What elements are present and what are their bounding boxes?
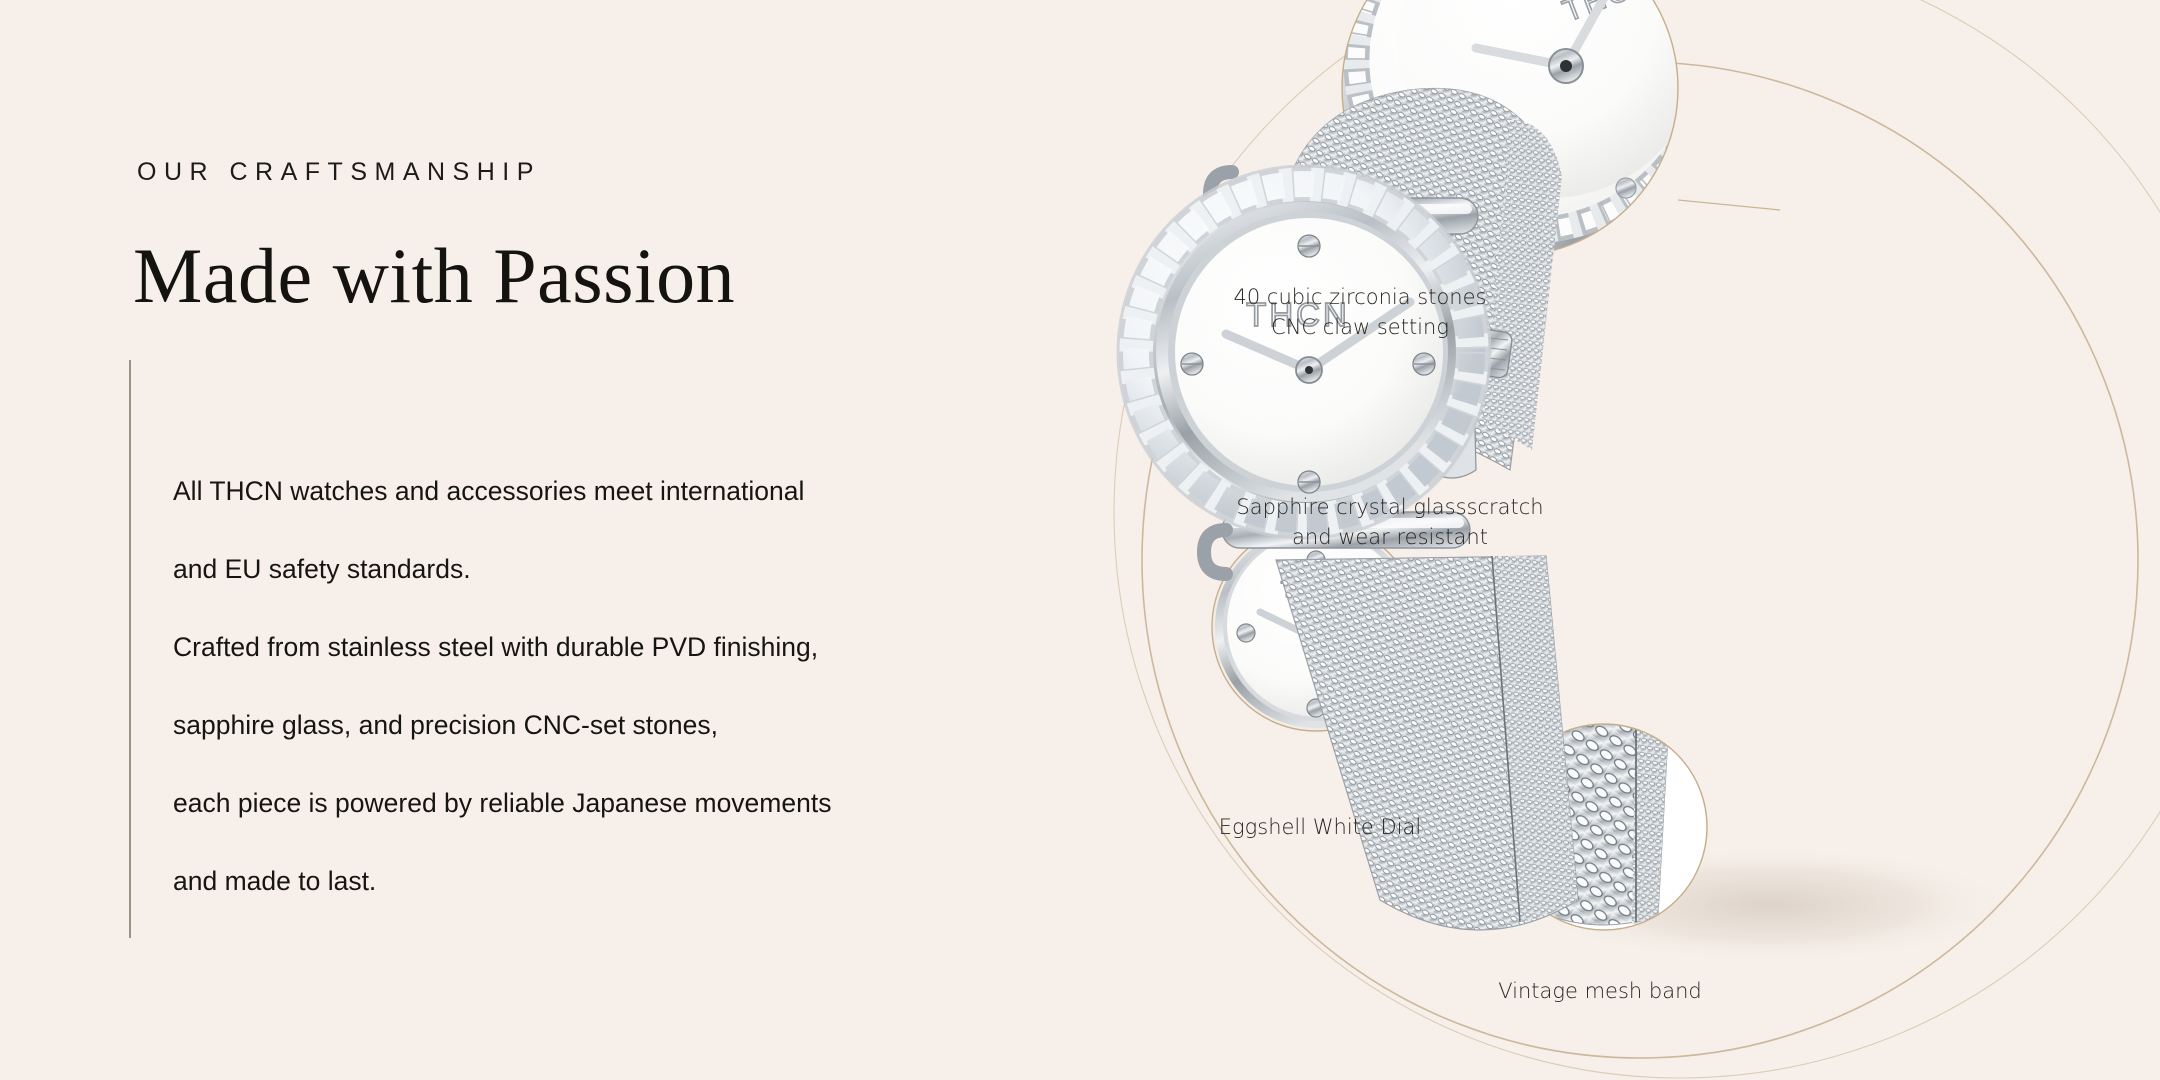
body-copy: All THCN watches and accessories meet in… <box>173 452 1103 920</box>
callout-line: Sapphire crystal glassscratch <box>1080 492 1700 522</box>
callout-label-sapphire: Sapphire crystal glassscratch and wear r… <box>1080 492 1700 552</box>
callout-line: 40 cubic zirconia stones <box>1080 282 1640 312</box>
body-line: and EU safety standards. <box>173 530 1103 608</box>
body-line: and made to last. <box>173 842 1103 920</box>
page-title: Made with Passion <box>133 237 735 315</box>
body-line: Crafted from stainless steel with durabl… <box>173 608 1103 686</box>
callout-line: and wear resistant <box>1080 522 1700 552</box>
callout-label-cubic-zirconia: 40 cubic zirconia stones CNC claw settin… <box>1080 282 1640 342</box>
body-line: sapphire glass, and precision CNC-set st… <box>173 686 1103 764</box>
body-line: All THCN watches and accessories meet in… <box>173 452 1103 530</box>
body-line: each piece is powered by reliable Japane… <box>173 764 1103 842</box>
product-visual-panel: THCN <box>1080 0 2160 1080</box>
eyebrow-label: OUR CRAFTSMANSHIP <box>137 158 541 187</box>
vertical-divider <box>129 360 131 938</box>
callout-label-mesh-band: Vintage mesh band <box>1280 976 1920 1006</box>
callout-line: Vintage mesh band <box>1280 976 1920 1006</box>
callout-line: Eggshell White Dial <box>1080 812 1560 842</box>
craftsmanship-section: OUR CRAFTSMANSHIP Made with Passion All … <box>0 0 2160 1080</box>
callout-line: CNC claw setting <box>1080 312 1640 342</box>
callout-label-eggshell-dial: Eggshell White Dial <box>1080 812 1560 842</box>
